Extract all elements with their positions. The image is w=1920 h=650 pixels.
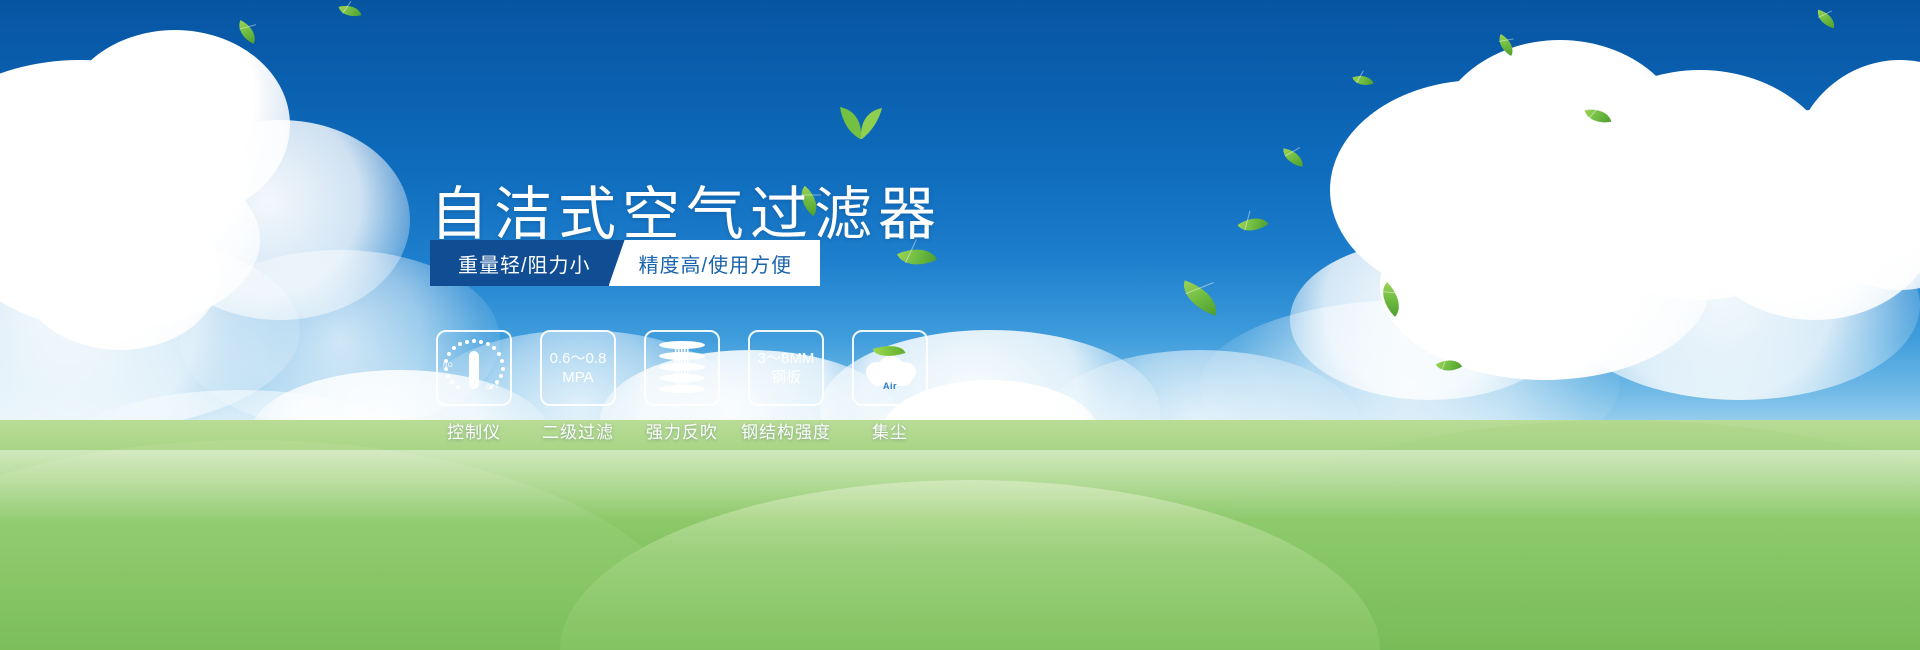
hero-banner: 自洁式空气过滤器 重量轻/阻力小 精度高/使用方便 (0, 0, 1920, 650)
feature-box: Air (852, 330, 928, 406)
feature-item-blowback[interactable]: 强力反吹 (644, 330, 720, 443)
feature-box: 3～8MM 钢板 (748, 330, 824, 406)
gauge-label-off: OFF (486, 385, 500, 391)
steel-value-line1: 3～8MM (758, 349, 815, 368)
feature-label: 强力反吹 (646, 418, 718, 443)
feature-item-filtration[interactable]: 0.6～0.8 MPA 二级过滤 (540, 330, 616, 443)
feature-tags: 重量轻/阻力小 精度高/使用方便 (430, 240, 820, 286)
feature-item-steel-strength[interactable]: 3～8MM 钢板 钢结构强度 (748, 330, 824, 443)
feature-label: 集尘 (872, 418, 908, 443)
pressure-value-line2: MPA (562, 368, 593, 387)
gauge-dial-icon: NO OFF (444, 339, 504, 397)
feature-box: 0.6～0.8 MPA (540, 330, 616, 406)
coil-filter-icon (659, 341, 705, 395)
feature-item-controller[interactable]: NO OFF 控制仪 (436, 330, 512, 443)
feature-list: NO OFF 控制仪 0.6～0.8 MPA 二级过滤 (436, 330, 928, 443)
air-label: Air (864, 381, 916, 391)
pressure-value-line1: 0.6～0.8 (550, 349, 607, 368)
feature-label: 控制仪 (447, 418, 501, 443)
feature-label: 钢结构强度 (741, 418, 831, 443)
banner-content: 自洁式空气过滤器 重量轻/阻力小 精度高/使用方便 (0, 0, 1920, 650)
feature-label: 二级过滤 (542, 418, 614, 443)
feature-item-dust-collection[interactable]: Air 集尘 (852, 330, 928, 443)
steel-value-line2: 钢板 (771, 368, 801, 387)
gauge-label-no: NO (443, 363, 453, 369)
title-leaf-icon (838, 106, 884, 140)
air-cloud-icon: Air (864, 346, 916, 390)
page-title: 自洁式空气过滤器 (430, 167, 942, 251)
tag-precision-convenience[interactable]: 精度高/使用方便 (609, 240, 821, 286)
feature-box (644, 330, 720, 406)
tag-weight-resistance[interactable]: 重量轻/阻力小 (430, 240, 625, 286)
feature-box: NO OFF (436, 330, 512, 406)
